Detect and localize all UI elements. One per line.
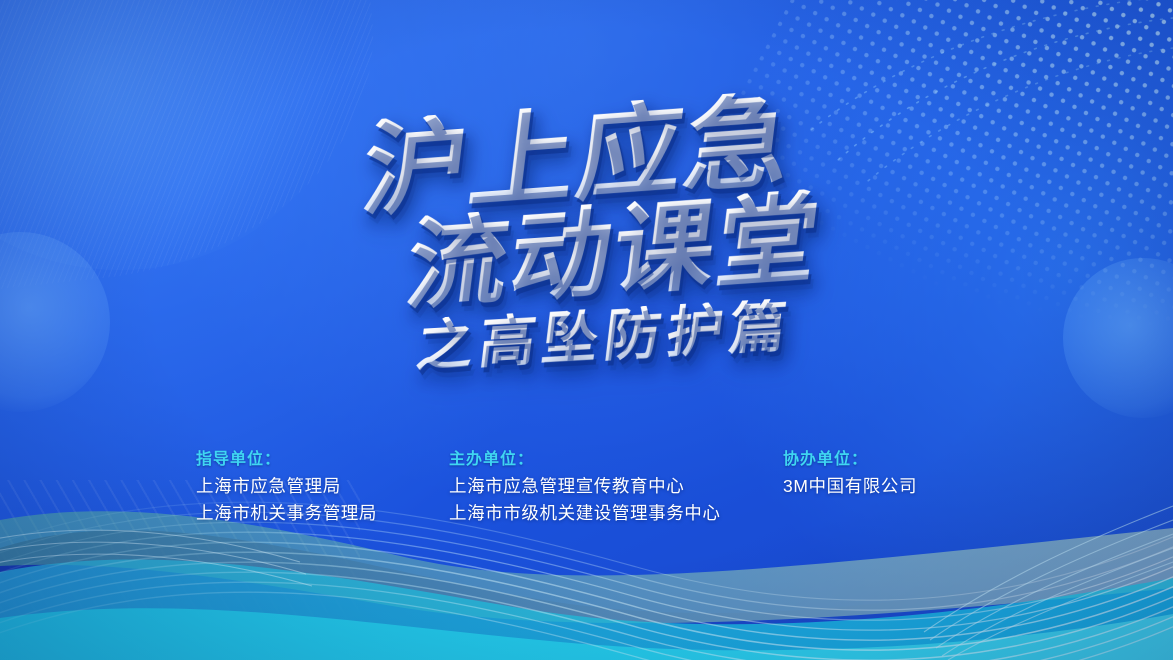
wave-teal [0, 560, 1173, 660]
credit-heading: 主办单位： [449, 448, 721, 473]
poster-canvas: 沪上应急 流动课堂 之高坠防护篇 指导单位： 上海市应急管理局 上海市机关事务管… [0, 0, 1173, 660]
poster-title: 沪上应急 流动课堂 之高坠防护篇 [0, 104, 1173, 364]
credit-item: 上海市应急管理宣传教育中心 [449, 473, 721, 500]
credit-group-guidance: 指导单位： 上海市应急管理局 上海市机关事务管理局 [196, 448, 377, 527]
wave-cyan-foreground [0, 608, 1173, 660]
credit-group-organizer: 主办单位： 上海市应急管理宣传教育中心 上海市市级机关建设管理事务中心 [449, 448, 721, 527]
credit-item: 上海市市级机关建设管理事务中心 [449, 500, 721, 527]
credit-item: 上海市机关事务管理局 [196, 500, 377, 527]
credits-block: 指导单位： 上海市应急管理局 上海市机关事务管理局 主办单位： 上海市应急管理宣… [0, 448, 1173, 540]
credit-heading: 指导单位： [196, 448, 377, 473]
credit-item: 3M中国有限公司 [783, 473, 917, 500]
credit-group-co-organizer: 协办单位： 3M中国有限公司 [783, 448, 917, 500]
wave-deep-blue [0, 530, 1173, 660]
credit-heading: 协办单位： [783, 448, 917, 473]
credit-item: 上海市应急管理局 [196, 473, 377, 500]
